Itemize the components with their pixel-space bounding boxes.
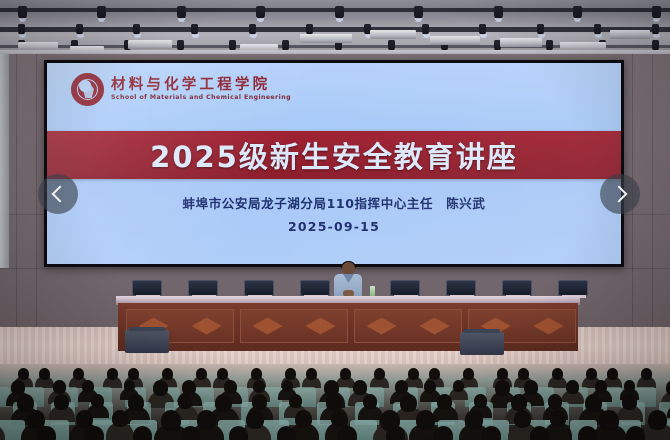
audience-head xyxy=(552,368,563,380)
audience-head xyxy=(482,426,501,440)
stage-light-icon xyxy=(573,6,582,19)
stage-light-icon xyxy=(191,24,198,35)
floor-monitor-speaker xyxy=(460,332,504,355)
table-monitor xyxy=(188,280,218,296)
audience-head xyxy=(196,368,207,380)
institution-name-en: School of Materials and Chemical Enginee… xyxy=(111,95,291,101)
ceiling-truss xyxy=(0,27,670,32)
audience-head xyxy=(511,394,527,411)
audience-head xyxy=(37,426,56,440)
audience-head xyxy=(550,410,566,427)
audience-head xyxy=(76,410,93,428)
audience-head xyxy=(251,368,262,380)
stage-light-icon xyxy=(256,6,265,19)
audience-head xyxy=(495,380,510,396)
title-banner: 2025级新生安全教育讲座 xyxy=(47,131,621,179)
audience-head xyxy=(338,426,357,440)
prev-slide-button[interactable] xyxy=(38,174,78,214)
institution-name-cn: 材料与化学工程学院 xyxy=(111,78,291,93)
stage-light-icon xyxy=(18,24,25,35)
audience-head xyxy=(253,380,265,393)
stage-light-icon xyxy=(594,24,601,35)
ceiling-panel-light xyxy=(300,34,352,43)
wood-inlay xyxy=(192,318,222,335)
audience-head xyxy=(400,394,417,412)
audience-head xyxy=(524,380,538,395)
chevron-left-icon xyxy=(51,186,68,203)
audience-head xyxy=(624,380,635,392)
audience-head xyxy=(395,380,408,394)
table-monitor xyxy=(390,280,420,296)
stage-light-icon xyxy=(652,24,659,35)
ceiling-panel-light xyxy=(500,38,542,47)
audience-head xyxy=(17,394,34,412)
audience-head xyxy=(53,380,66,394)
audience-head xyxy=(289,394,302,408)
audience-head xyxy=(386,426,405,440)
table-panel xyxy=(354,309,462,343)
audience-head xyxy=(181,426,200,440)
audience-head xyxy=(595,380,607,393)
institution-logo: 材料与化学工程学院 School of Materials and Chemic… xyxy=(71,73,291,106)
stage-light-icon xyxy=(414,6,423,19)
audience-head xyxy=(178,394,192,409)
audience-head xyxy=(626,426,645,440)
audience-head xyxy=(295,410,312,428)
event-date: 2025-09-15 xyxy=(47,219,621,234)
stage-light-icon xyxy=(479,24,486,35)
audience-head xyxy=(424,380,436,393)
audience-head xyxy=(107,368,118,380)
audience-head xyxy=(285,368,296,380)
audience-head xyxy=(566,380,579,394)
audience-head xyxy=(224,380,237,394)
university-seal-icon xyxy=(71,73,104,106)
audience-head xyxy=(416,410,435,430)
audience-head xyxy=(353,380,367,395)
audience-head xyxy=(437,394,452,410)
wood-inlay xyxy=(420,318,450,335)
audience-head xyxy=(518,368,529,380)
audience-head xyxy=(530,426,549,440)
audience-head xyxy=(18,368,29,380)
ceiling xyxy=(0,0,670,56)
audience-head xyxy=(54,394,69,410)
audience-head xyxy=(153,380,168,396)
table-monitor xyxy=(300,280,330,296)
table-monitor xyxy=(132,280,162,296)
conference-table xyxy=(118,303,578,351)
stage-light-icon xyxy=(494,6,503,19)
audience-head xyxy=(277,426,296,440)
stage-light-icon xyxy=(76,24,83,35)
stage-light-icon xyxy=(422,24,429,35)
ceiling-panel-light xyxy=(128,40,172,49)
audience-head xyxy=(85,426,104,440)
audience-head xyxy=(306,368,317,380)
audience-head xyxy=(666,380,670,396)
audience-head xyxy=(91,394,104,408)
audience-head xyxy=(326,394,342,411)
audience-head xyxy=(463,368,474,380)
next-slide-button[interactable] xyxy=(600,174,640,214)
audience-head xyxy=(340,368,351,380)
audience-head xyxy=(374,368,385,380)
ceiling-panel-light xyxy=(370,30,416,39)
audience-head xyxy=(434,426,453,440)
audience-head xyxy=(252,394,267,410)
wall-light-strip xyxy=(0,54,9,268)
stage-light-icon xyxy=(335,6,344,19)
audience-head xyxy=(39,368,50,380)
table-monitor xyxy=(558,280,588,296)
audience-head xyxy=(162,368,173,380)
audience-head xyxy=(133,426,152,440)
audience-head xyxy=(585,394,602,412)
table-monitor xyxy=(502,280,532,296)
audience-head xyxy=(465,410,483,429)
audience-head xyxy=(282,380,293,392)
ceiling-panel-light xyxy=(430,36,480,45)
audience-head xyxy=(197,410,216,430)
audience-head xyxy=(641,368,652,380)
audience-head xyxy=(408,368,419,380)
speaker-line: 蚌埠市公安局龙子湖分局110指挥中心主任 陈兴武 xyxy=(47,193,621,212)
audience-head xyxy=(128,394,144,411)
table-monitor xyxy=(446,280,476,296)
wood-inlay xyxy=(306,318,336,335)
audience-area xyxy=(0,364,670,440)
ceiling-panel-light xyxy=(610,30,650,39)
audience-head xyxy=(548,394,562,409)
audience-head xyxy=(82,380,94,393)
auditorium-photo: 材料与化学工程学院 School of Materials and Chemic… xyxy=(0,0,670,440)
audience-head xyxy=(215,394,232,412)
table-monitor xyxy=(244,280,274,296)
audience-head xyxy=(578,426,597,440)
audience-head xyxy=(474,394,487,408)
audience-head xyxy=(246,410,264,429)
audience-head xyxy=(648,410,667,430)
audience-head xyxy=(363,394,377,409)
stage-light-icon xyxy=(97,6,106,19)
stage-light-icon xyxy=(18,6,27,19)
presentation-title: 2025级新生安全教育讲座 xyxy=(150,134,518,176)
audience-head xyxy=(73,368,84,380)
audience-head xyxy=(124,380,135,392)
audience-head xyxy=(607,368,618,380)
audience-head xyxy=(331,410,347,427)
audience-head xyxy=(514,410,531,428)
audience-head xyxy=(182,380,196,395)
floor-monitor-speaker xyxy=(125,330,169,353)
audience-head xyxy=(128,368,139,380)
stage-light-icon xyxy=(249,24,256,35)
wood-inlay xyxy=(253,318,283,335)
audience-head xyxy=(112,410,128,427)
chevron-right-icon xyxy=(610,186,627,203)
table-panel xyxy=(240,309,348,343)
audience-head xyxy=(586,368,597,380)
audience-head xyxy=(217,368,228,380)
wood-inlay xyxy=(534,318,564,335)
audience-head xyxy=(11,380,25,395)
audience-head xyxy=(599,410,619,431)
audience-head xyxy=(622,394,637,410)
stage-light-icon xyxy=(133,24,140,35)
stage-light-icon xyxy=(177,6,186,19)
led-screen: 材料与化学工程学院 School of Materials and Chemic… xyxy=(44,60,624,267)
audience-head xyxy=(229,426,248,440)
wood-inlay xyxy=(367,318,397,335)
audience-head xyxy=(453,380,464,392)
audience-head xyxy=(161,410,181,431)
stage-light-icon xyxy=(652,6,661,19)
audience-head xyxy=(429,368,440,380)
stage-light-icon xyxy=(537,24,544,35)
audience-head xyxy=(497,368,508,380)
